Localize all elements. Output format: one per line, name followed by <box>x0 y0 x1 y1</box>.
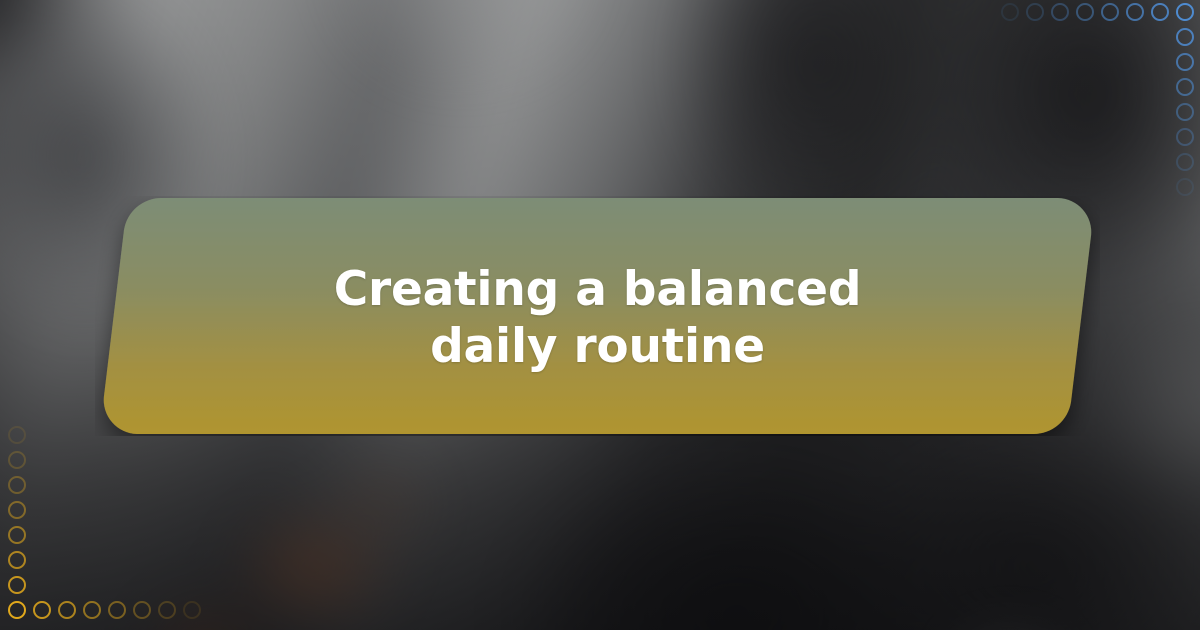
title-text-block: Creating a balanced daily routine <box>95 196 1100 436</box>
gold-dot <box>158 601 176 619</box>
title-card: Creating a balanced daily routine <box>95 196 1100 436</box>
gold-dot <box>8 601 26 619</box>
gold-dot <box>183 601 201 619</box>
title-line-2: daily routine <box>430 319 765 374</box>
gold-dot <box>8 551 26 569</box>
gold-dot <box>8 426 26 444</box>
gold-dot <box>8 526 26 544</box>
gold-dot <box>8 576 26 594</box>
gold-dot <box>33 601 51 619</box>
gold-dot <box>133 601 151 619</box>
gold-dot <box>58 601 76 619</box>
gold-dot <box>8 476 26 494</box>
gold-dot <box>8 501 26 519</box>
gold-dot <box>108 601 126 619</box>
gold-dot <box>8 451 26 469</box>
title-line-1: Creating a balanced <box>334 262 862 317</box>
gold-dot <box>83 601 101 619</box>
